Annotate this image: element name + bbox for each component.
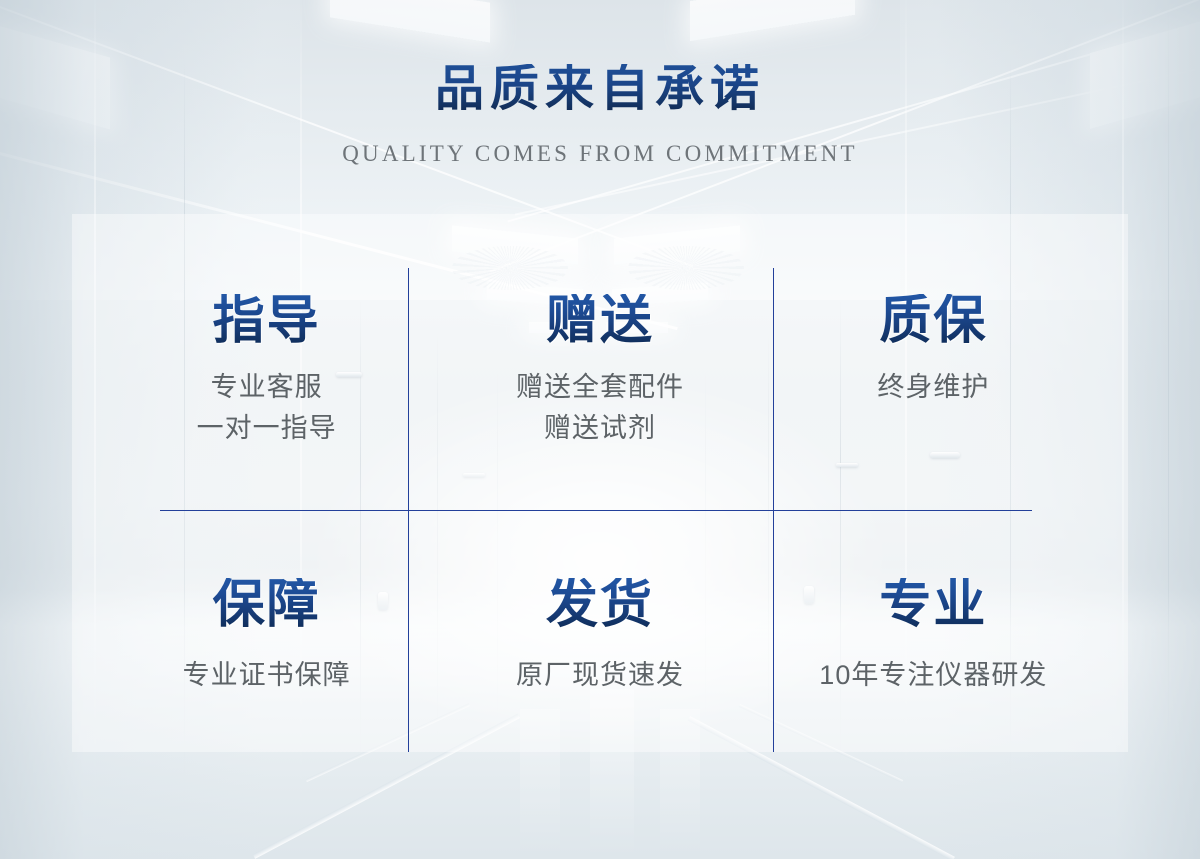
feature-cell-warranty: 质保 终身维护 — [767, 258, 1100, 510]
feature-body: 专业客服 一对一指导 — [100, 367, 433, 449]
feature-body: 赠送全套配件 赠送试剂 — [433, 367, 766, 449]
feature-title: 赠送 — [433, 294, 766, 349]
page-subtitle: QUALITY COMES FROM COMMITMENT — [0, 141, 1200, 167]
feature-title: 发货 — [433, 578, 766, 633]
feature-body: 10年专注仪器研发 — [767, 655, 1100, 696]
feature-grid: 指导 专业客服 一对一指导 赠送 赠送全套配件 赠送试剂 质保 终身维护 保障 … — [100, 258, 1100, 756]
feature-cell-shipping: 发货 原厂现货速发 — [433, 510, 766, 756]
feature-body: 专业证书保障 — [100, 655, 433, 696]
feature-title: 指导 — [100, 294, 433, 349]
feature-cell-gift: 赠送 赠送全套配件 赠送试剂 — [433, 258, 766, 510]
page-title: 品质来自承诺 — [0, 64, 1200, 113]
feature-cell-expertise: 专业 10年专注仪器研发 — [767, 510, 1100, 756]
feature-body: 原厂现货速发 — [433, 655, 766, 696]
promo-banner: 品质来自承诺 QUALITY COMES FROM COMMITMENT 指导 … — [0, 0, 1200, 859]
divider-horizontal — [160, 510, 1032, 511]
feature-title: 保障 — [100, 578, 433, 633]
header: 品质来自承诺 QUALITY COMES FROM COMMITMENT — [0, 0, 1200, 167]
feature-cell-guidance: 指导 专业客服 一对一指导 — [100, 258, 433, 510]
feature-title: 质保 — [767, 294, 1100, 349]
feature-body: 终身维护 — [767, 367, 1100, 408]
feature-cell-assurance: 保障 专业证书保障 — [100, 510, 433, 756]
feature-title: 专业 — [767, 578, 1100, 633]
